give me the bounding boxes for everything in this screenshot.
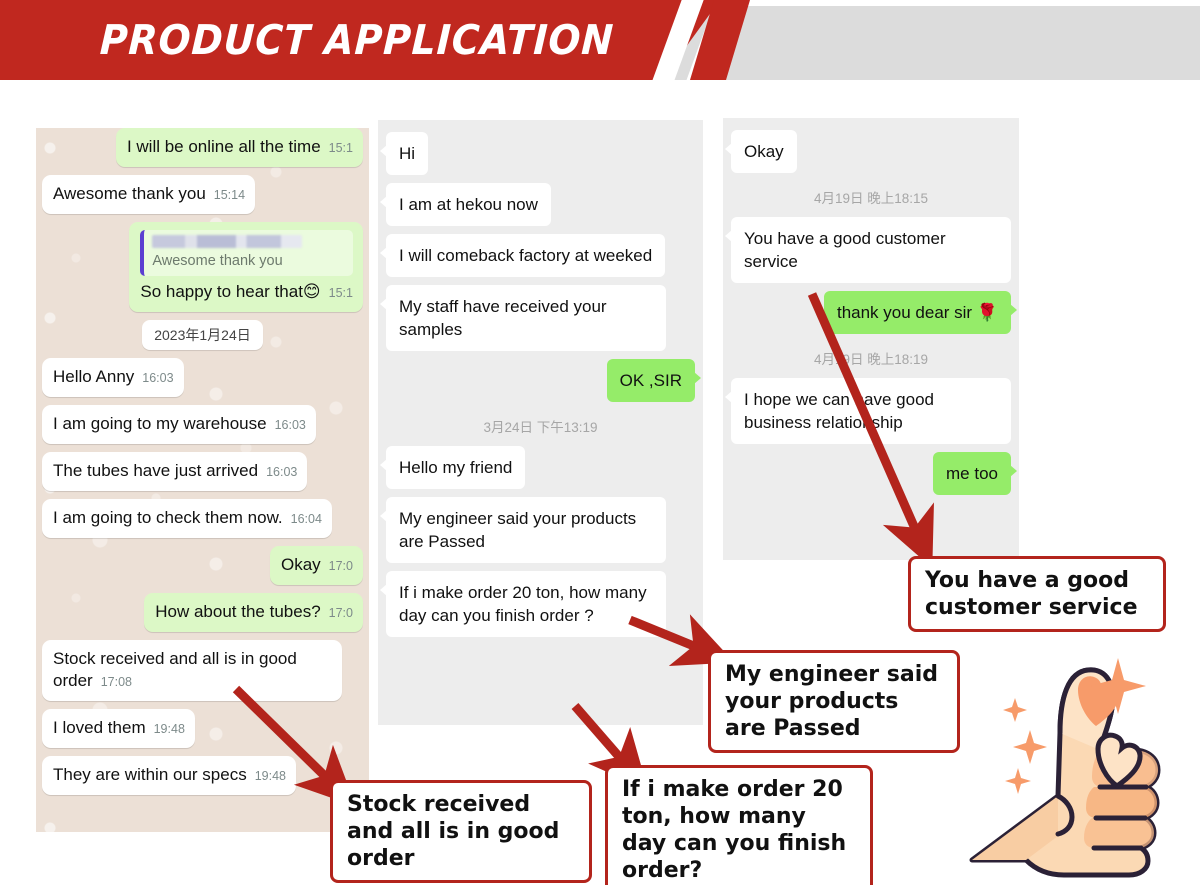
message-row: thank you dear sir 🌹 [731,291,1011,334]
message-row: OK ,SIR [386,359,695,402]
message-bubble[interactable]: How about the tubes?17:0 [144,593,363,632]
message-bubble[interactable]: Stock received and all is in good order1… [42,640,342,701]
message-text: The tubes have just arrived [53,461,258,480]
message-list: Okay4月19日 晚上18:15You have a good custome… [723,118,1019,511]
quoted-text: Awesome thank you [152,252,345,270]
message-text: thank you dear sir [837,303,977,322]
callout-order: If i make order 20 ton, how many day can… [605,765,873,885]
message-row: Okay17:0 [42,546,363,585]
message-timestamp: 15:1 [329,286,353,300]
thumbs-up-icon [960,636,1200,885]
message-bubble[interactable]: Okay17:0 [270,546,363,585]
message-row: My staff have received your samples [386,285,695,351]
message-text: Hello my friend [399,458,512,477]
message-bubble[interactable]: I am at hekou now [386,183,551,226]
message-row: I am going to check them now.16:04 [42,499,363,538]
message-text: I loved them [53,718,146,737]
message-timestamp: 16:04 [291,512,322,526]
message-timestamp: 17:08 [101,675,132,689]
header-banner: PRODUCT APPLICATION [0,0,1200,86]
message-row: Hello my friend [386,446,695,489]
message-row: I loved them19:48 [42,709,363,748]
message-row: I am at hekou now [386,183,695,226]
message-row: me too [731,452,1011,495]
page-title: PRODUCT APPLICATION [99,12,616,68]
message-text: Okay [744,142,784,161]
message-bubble[interactable]: I am going to check them now.16:04 [42,499,332,538]
message-timestamp: 15:1 [329,141,353,155]
date-separator: 2023年1月24日 [142,320,263,350]
message-row: Awesome thank youSo happy to hear that😊1… [42,222,363,312]
message-text: Awesome thank you [53,184,206,203]
message-timestamp: 17:0 [329,559,353,573]
message-row: The tubes have just arrived16:03 [42,452,363,491]
message-text: So happy to hear that [140,282,303,301]
message-text: I am going to my warehouse [53,414,267,433]
chat-panel-whatsapp: I will be online all the time15:1Awesome… [36,128,369,832]
message-bubble[interactable]: You have a good customer service [731,217,1011,283]
quoted-sender-redacted [152,235,302,248]
message-row: If i make order 20 ton, how many day can… [386,571,695,637]
message-text: Hello Anny [53,367,134,386]
message-bubble[interactable]: The tubes have just arrived16:03 [42,452,307,491]
quoted-message: Awesome thank you [140,230,353,276]
message-timestamp: 16:03 [266,465,297,479]
date-separator: 3月24日 下午13:19 [386,410,695,446]
message-text: They are within our specs [53,765,247,784]
message-row: My engineer said your products are Passe… [386,497,695,563]
message-row: Hi [386,132,695,175]
chat-panel-wechat-1: HiI am at hekou nowI will comeback facto… [378,120,703,725]
callout-engineer: My engineer said your products are Passe… [708,650,960,753]
chat-panel-wechat-2: Okay4月19日 晚上18:15You have a good custome… [723,118,1019,560]
message-bubble[interactable]: Hello Anny16:03 [42,358,184,397]
message-text: me too [946,464,998,483]
page-root: PRODUCT APPLICATION I will be online all… [0,0,1200,885]
date-separator: 4月19日 晚上18:15 [731,181,1011,217]
message-timestamp: 16:03 [142,371,173,385]
callout-service: You have a good customer service [908,556,1166,632]
message-row: How about the tubes?17:0 [42,593,363,632]
message-text: Okay [281,555,321,574]
message-text: I will comeback factory at weeked [399,246,652,265]
message-row: I am going to my warehouse16:03 [42,405,363,444]
emoji-icon: 😊 [303,282,321,301]
message-text: Stock received and all is in good order [53,649,297,690]
message-bubble[interactable]: I am going to my warehouse16:03 [42,405,316,444]
message-bubble[interactable]: Hi [386,132,428,175]
message-bubble[interactable]: If i make order 20 ton, how many day can… [386,571,666,637]
message-bubble[interactable]: Awesome thank you15:14 [42,175,255,214]
message-bubble[interactable]: me too [933,452,1011,495]
message-timestamp: 19:48 [154,722,185,736]
message-text: I hope we can have good business relatio… [744,390,934,432]
message-timestamp: 17:0 [329,606,353,620]
callout-stock: Stock received and all is in good order [330,780,592,883]
message-bubble[interactable]: Awesome thank youSo happy to hear that😊1… [129,222,363,312]
message-row: They are within our specs19:48 [42,756,363,795]
message-timestamp: 19:48 [255,769,286,783]
message-list: I will be online all the time15:1Awesome… [36,128,369,795]
message-bubble[interactable]: I will be online all the time15:1 [116,128,363,167]
message-text: OK ,SIR [620,371,682,390]
message-text: I will be online all the time [127,137,321,156]
message-row: I hope we can have good business relatio… [731,378,1011,444]
message-text: I am going to check them now. [53,508,283,527]
message-text: If i make order 20 ton, how many day can… [399,583,647,625]
message-row: 2023年1月24日 [42,320,363,350]
message-bubble[interactable]: I loved them19:48 [42,709,195,748]
message-bubble[interactable]: Okay [731,130,797,173]
message-row: Hello Anny16:03 [42,358,363,397]
message-row: You have a good customer service [731,217,1011,283]
message-bubble[interactable]: thank you dear sir 🌹 [824,291,1011,334]
message-bubble[interactable]: My engineer said your products are Passe… [386,497,666,563]
message-text: I am at hekou now [399,195,538,214]
message-bubble[interactable]: I will comeback factory at weeked [386,234,665,277]
message-row: Stock received and all is in good order1… [42,640,363,701]
message-row: I will comeback factory at weeked [386,234,695,277]
message-text: My engineer said your products are Passe… [399,509,636,551]
message-bubble[interactable]: OK ,SIR [607,359,695,402]
message-bubble[interactable]: I hope we can have good business relatio… [731,378,1011,444]
message-row: Okay [731,130,1011,173]
emoji-icon: 🌹 [977,303,998,322]
message-row: Awesome thank you15:14 [42,175,363,214]
message-list: HiI am at hekou nowI will comeback facto… [378,120,703,653]
message-bubble[interactable]: My staff have received your samples [386,285,666,351]
message-text: You have a good customer service [744,229,946,271]
message-row: I will be online all the time15:1 [42,128,363,167]
message-timestamp: 16:03 [275,418,306,432]
message-text: Hi [399,144,415,163]
message-bubble[interactable]: They are within our specs19:48 [42,756,296,795]
date-separator: 4月19日 晚上18:19 [731,342,1011,378]
message-text: How about the tubes? [155,602,320,621]
message-text: My staff have received your samples [399,297,607,339]
message-bubble[interactable]: Hello my friend [386,446,525,489]
message-timestamp: 15:14 [214,188,245,202]
